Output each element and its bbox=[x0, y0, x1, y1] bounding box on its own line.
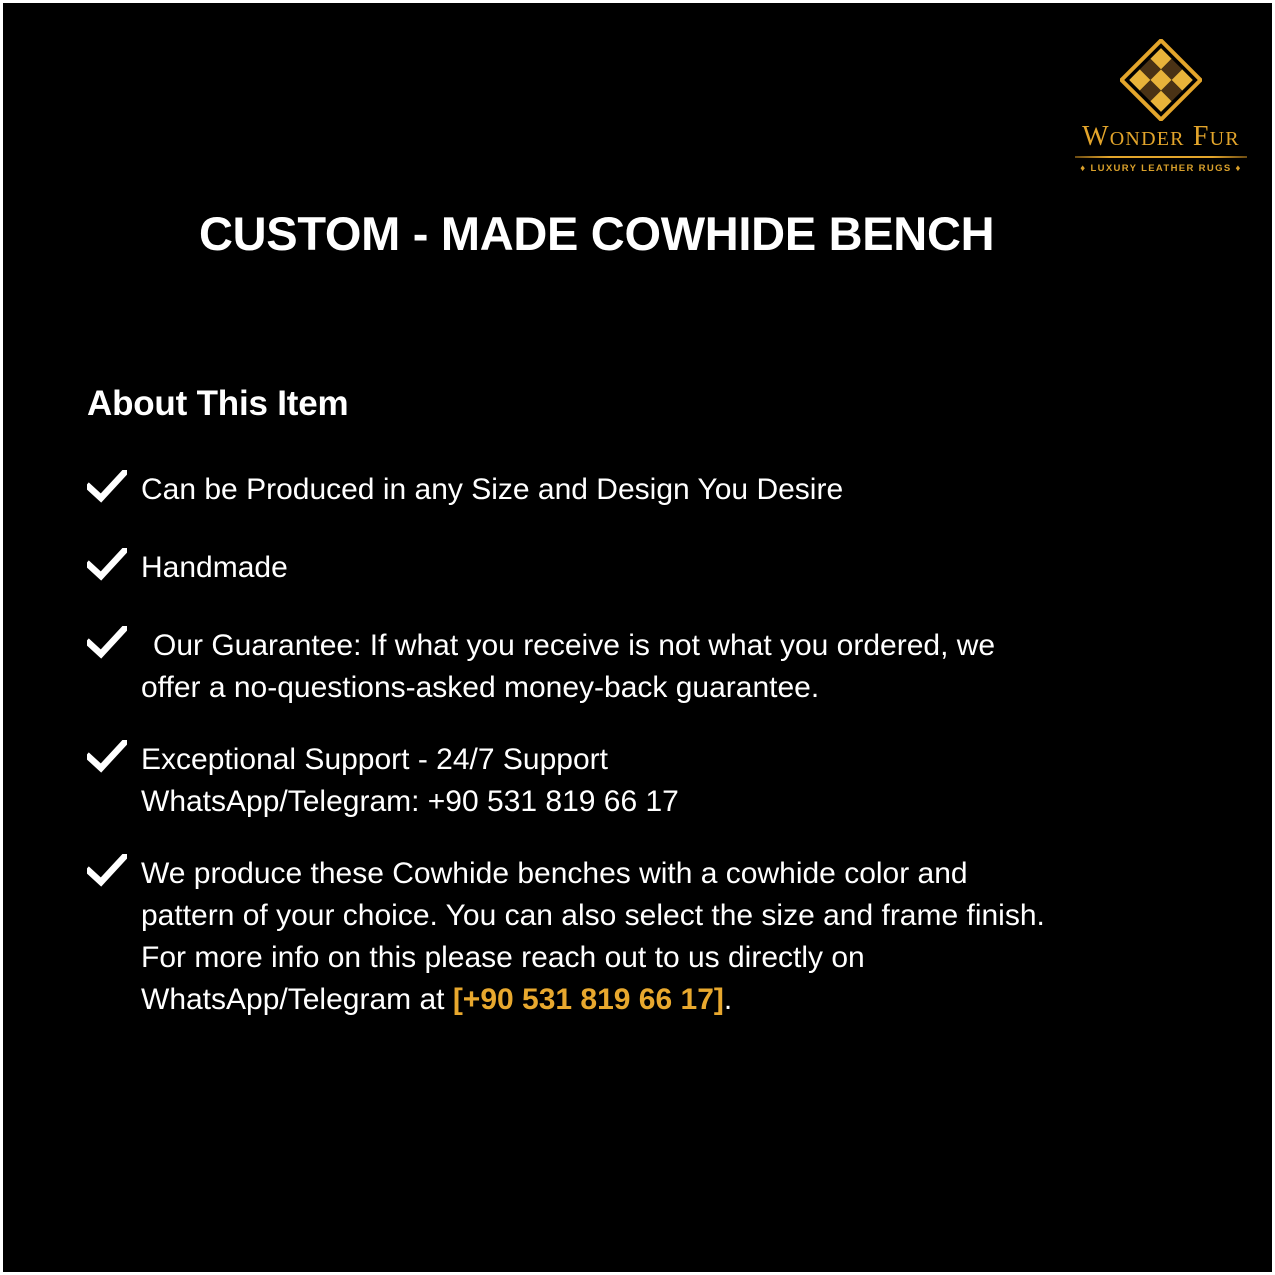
list-item: We produce these Cowhide benches with a … bbox=[87, 853, 1207, 1021]
brand-logo: Wonder Fur ♦ LUXURY LEATHER RUGS ♦ bbox=[1071, 39, 1251, 185]
section-heading-about-this-item: About This Item bbox=[87, 384, 348, 424]
list-item-label: Exceptional Support - 24/7 Support Whats… bbox=[141, 739, 1207, 823]
check-icon bbox=[87, 626, 127, 660]
list-item-text-after: . bbox=[724, 983, 732, 1016]
contact-phone-highlight[interactable]: [+90 531 819 66 17] bbox=[453, 983, 724, 1016]
list-item-label: We produce these Cowhide benches with a … bbox=[141, 853, 1207, 1021]
logo-divider-rule bbox=[1075, 156, 1247, 158]
diamond-checkerboard-logo-icon bbox=[1120, 39, 1202, 121]
list-item-label: Can be Produced in any Size and Design Y… bbox=[141, 469, 1207, 511]
list-item: Can be Produced in any Size and Design Y… bbox=[87, 469, 1207, 511]
page-title: CUSTOM - MADE COWHIDE BENCH bbox=[199, 206, 994, 261]
list-item: Exceptional Support - 24/7 Support Whats… bbox=[87, 739, 1207, 823]
list-item-label: Handmade bbox=[141, 547, 1207, 589]
poster-canvas: Wonder Fur ♦ LUXURY LEATHER RUGS ♦ CUSTO… bbox=[3, 3, 1272, 1272]
list-item-label: Our Guarantee: If what you receive is no… bbox=[141, 625, 1207, 709]
feature-list: Can be Produced in any Size and Design Y… bbox=[87, 469, 1207, 1021]
check-icon bbox=[87, 854, 127, 888]
check-icon bbox=[87, 470, 127, 504]
list-item: Handmade bbox=[87, 547, 1207, 589]
brand-wordmark: Wonder Fur bbox=[1071, 123, 1251, 151]
check-icon bbox=[87, 548, 127, 582]
list-item: Our Guarantee: If what you receive is no… bbox=[87, 625, 1207, 709]
check-icon bbox=[87, 740, 127, 774]
brand-tagline: ♦ LUXURY LEATHER RUGS ♦ bbox=[1071, 163, 1251, 174]
